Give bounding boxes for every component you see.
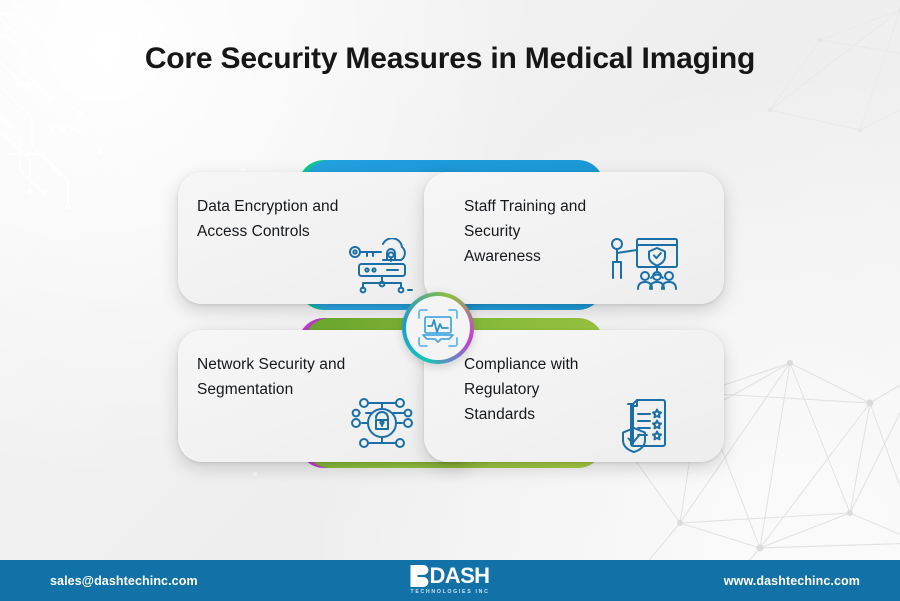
center-hub bbox=[402, 292, 474, 364]
quadrant-diagram: Data Encryption and Access Controls bbox=[178, 160, 724, 468]
network-lock-nodes-icon bbox=[348, 394, 416, 452]
document-shield-check-icon bbox=[619, 394, 681, 454]
dash-logo-tagline: TECHNOLOGIES INC bbox=[410, 590, 489, 595]
card-title-data-encryption: Data Encryption and Access Controls bbox=[197, 194, 422, 244]
circuit-board-pattern-icon bbox=[0, 0, 200, 209]
decorative-dot bbox=[253, 472, 257, 476]
card-compliance[interactable]: Compliance with Regulatory Standards bbox=[424, 330, 724, 462]
training-presentation-shield-icon bbox=[609, 236, 679, 292]
footer-email-link[interactable]: sales@dashtechinc.com bbox=[50, 574, 198, 588]
dash-logo: DASH TECHNOLOGIES INC bbox=[410, 565, 489, 595]
medical-monitor-scan-icon bbox=[417, 308, 459, 348]
footer-website-link[interactable]: www.dashtechinc.com bbox=[724, 574, 860, 588]
footer-bar: sales@dashtechinc.com DASH TECHNOLOGIES … bbox=[0, 560, 900, 601]
card-staff-training[interactable]: Staff Training and Security Awareness bbox=[424, 172, 724, 304]
dash-logo-mark-icon bbox=[411, 565, 429, 587]
page-title: Core Security Measures in Medical Imagin… bbox=[0, 42, 900, 76]
dash-logo-word: DASH bbox=[430, 565, 490, 587]
cloud-key-server-icon bbox=[343, 238, 421, 294]
